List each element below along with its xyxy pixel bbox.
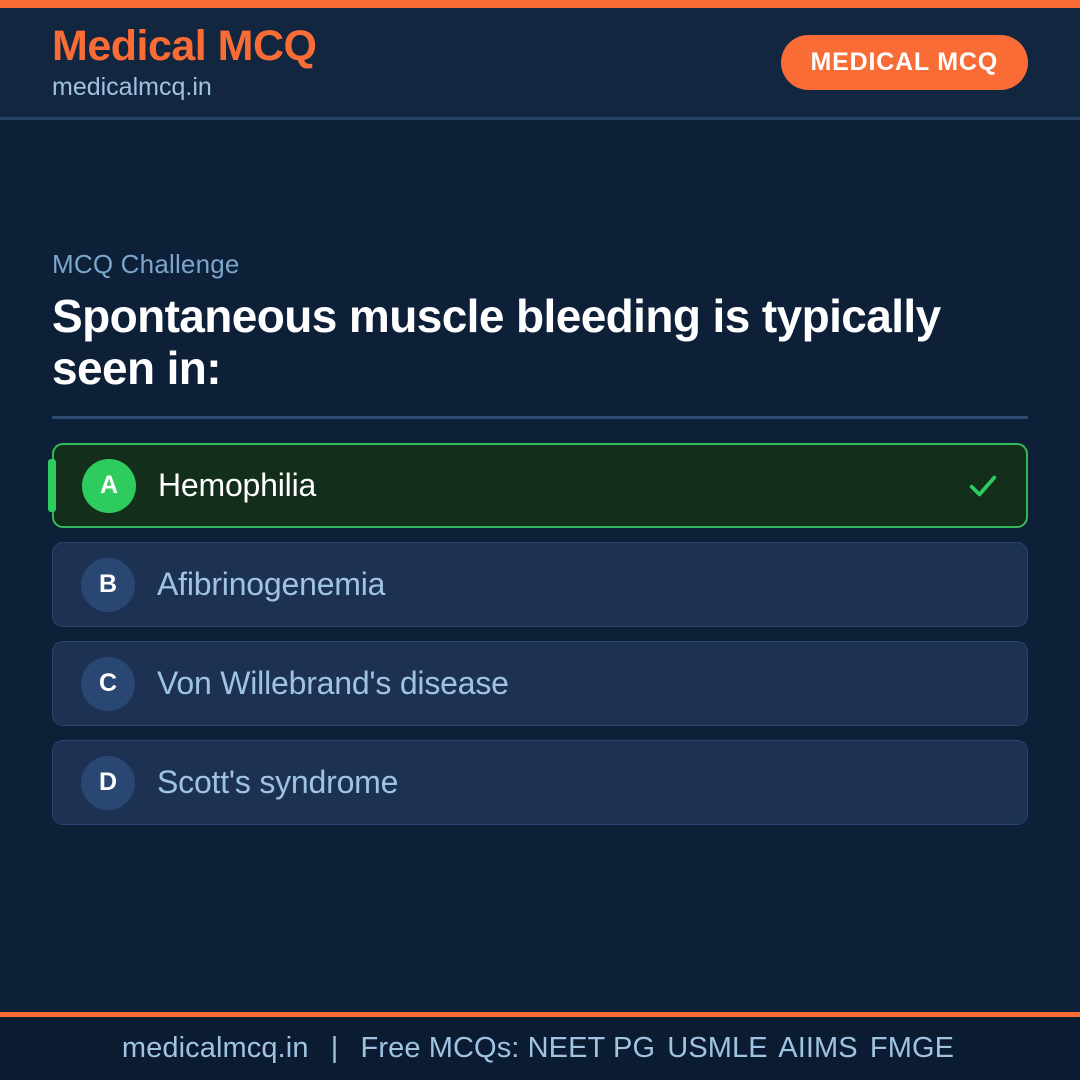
option-letter-badge: A	[82, 459, 136, 513]
option-letter-badge: C	[81, 657, 135, 711]
footer: medicalmcq.in | Free MCQs: NEET PG USMLE…	[0, 1012, 1080, 1080]
options-list: AHemophiliaBAfibrinogenemiaCVon Willebra…	[52, 443, 1028, 825]
footer-exam-fmge: FMGE	[870, 1032, 958, 1064]
correct-accent-bar	[48, 459, 56, 512]
option-label: Von Willebrand's disease	[157, 665, 1001, 702]
option-label: Afibrinogenemia	[157, 566, 1001, 603]
brand-title: Medical MCQ	[52, 25, 317, 68]
footer-exams: NEET PG USMLE AIIMS FMGE	[528, 1032, 958, 1064]
footer-separator: |	[317, 1032, 353, 1065]
option-c[interactable]: CVon Willebrand's disease	[52, 641, 1028, 726]
footer-site: medicalmcq.in	[122, 1032, 309, 1064]
footer-exam-usmle: USMLE	[667, 1032, 771, 1064]
option-label: Hemophilia	[158, 467, 952, 504]
option-label: Scott's syndrome	[157, 764, 1001, 801]
option-b[interactable]: BAfibrinogenemia	[52, 542, 1028, 627]
footer-free-label: Free MCQs:	[361, 1032, 520, 1064]
footer-text: medicalmcq.in | Free MCQs: NEET PG USMLE…	[122, 1032, 958, 1065]
divider	[52, 416, 1028, 419]
brand: Medical MCQ medicalmcq.in	[52, 25, 317, 100]
header: Medical MCQ medicalmcq.in MEDICAL MCQ	[0, 8, 1080, 120]
option-a[interactable]: AHemophilia	[52, 443, 1028, 528]
footer-exam-neet-pg: NEET PG	[528, 1032, 659, 1064]
eyebrow-label: MCQ Challenge	[52, 249, 1028, 280]
question-text: Spontaneous muscle bleeding is typically…	[52, 290, 1012, 395]
check-icon	[966, 469, 1000, 503]
mcq-card: Medical MCQ medicalmcq.in MEDICAL MCQ MC…	[0, 0, 1080, 1080]
main-content: MCQ Challenge Spontaneous muscle bleedin…	[0, 120, 1080, 1012]
option-d[interactable]: DScott's syndrome	[52, 740, 1028, 825]
footer-exam-aiims: AIIMS	[778, 1032, 861, 1064]
top-accent-bar	[0, 0, 1080, 8]
brand-domain: medicalmcq.in	[52, 75, 317, 100]
option-letter-badge: B	[81, 558, 135, 612]
header-badge: MEDICAL MCQ	[781, 35, 1029, 90]
option-letter-badge: D	[81, 756, 135, 810]
